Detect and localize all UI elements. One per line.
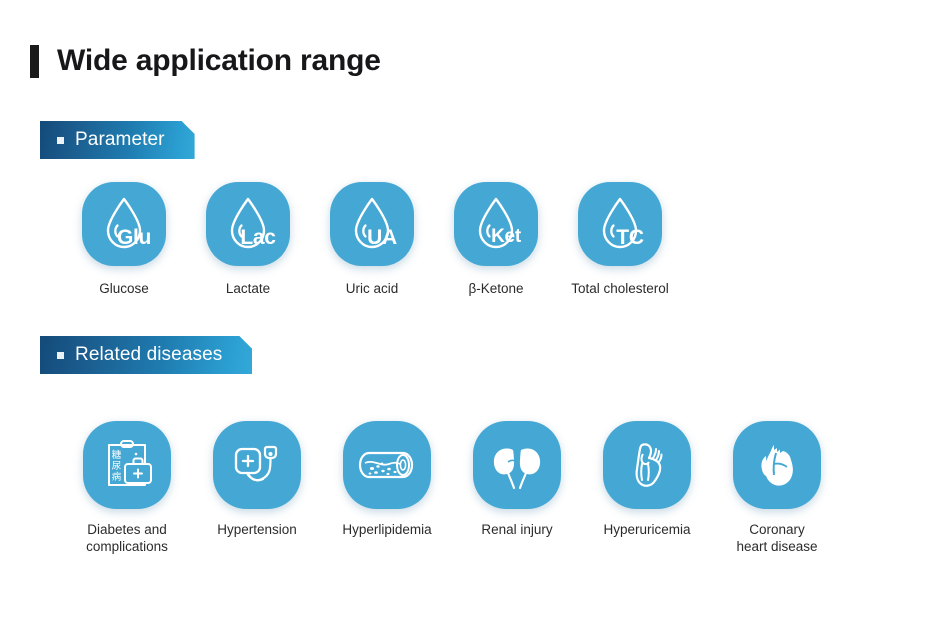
parameter-label-glucose: Glucose xyxy=(99,280,149,297)
parameter-item-total-cholesterol[interactable]: TC Total cholesterol xyxy=(558,182,682,297)
disease-item-hyperuricemia[interactable]: Hyperuricemia xyxy=(582,421,712,538)
blood-droplet-icon xyxy=(214,190,282,258)
parameter-tile-lactate[interactable]: Lac xyxy=(206,182,290,266)
kidneys-icon xyxy=(486,434,548,496)
disease-item-renal-injury[interactable]: Renal injury xyxy=(452,421,582,538)
disease-label-renal-injury: Renal injury xyxy=(481,521,552,538)
disease-tile-diabetes[interactable]: 糖 尿 病 xyxy=(83,421,171,509)
disease-label-hypertension: Hypertension xyxy=(217,521,297,538)
disease-tile-hyperuricemia[interactable] xyxy=(603,421,691,509)
blood-vessel-lipid-icon xyxy=(355,433,419,497)
disease-tile-hypertension[interactable] xyxy=(213,421,301,509)
section-banner-parameter: Parameter xyxy=(40,121,195,159)
section-banner-parameter-label: Parameter xyxy=(75,129,165,151)
blood-droplet-icon xyxy=(338,190,406,258)
blood-droplet-icon xyxy=(586,190,654,258)
parameter-tile-total-cholesterol[interactable]: TC xyxy=(578,182,662,266)
parameter-label-total-cholesterol: Total cholesterol xyxy=(571,280,669,297)
disease-item-hyperlipidemia[interactable]: Hyperlipidemia xyxy=(322,421,452,538)
disease-label-hyperuricemia: Hyperuricemia xyxy=(603,521,690,538)
cjk-char-1: 糖 xyxy=(112,449,122,461)
parameter-tile-row: Glu Glucose Lac Lactate UA Ur xyxy=(62,182,682,297)
cjk-char-2: 尿 xyxy=(112,461,122,472)
title-accent-bar xyxy=(30,45,39,78)
clipboard-medical-kit-icon: 糖 尿 病 xyxy=(95,433,159,497)
disease-tile-row: 糖 尿 病 Diabetes and complications xyxy=(62,421,842,555)
blood-pressure-monitor-icon xyxy=(226,434,288,496)
parameter-item-ketone[interactable]: Ket β-Ketone xyxy=(434,182,558,297)
disease-item-diabetes[interactable]: 糖 尿 病 Diabetes and complications xyxy=(62,421,192,555)
anatomical-heart-icon xyxy=(746,434,808,496)
disease-tile-coronary-heart-disease[interactable] xyxy=(733,421,821,509)
disease-item-hypertension[interactable]: Hypertension xyxy=(192,421,322,538)
parameter-tile-ketone[interactable]: Ket xyxy=(454,182,538,266)
disease-label-diabetes: Diabetes and complications xyxy=(86,521,168,555)
parameter-label-ketone: β-Ketone xyxy=(468,280,523,297)
page-title: Wide application range xyxy=(57,44,381,78)
parameter-label-lactate: Lactate xyxy=(226,280,270,297)
square-bullet-icon xyxy=(57,137,64,144)
disease-item-coronary-heart-disease[interactable]: Coronary heart disease xyxy=(712,421,842,555)
parameter-item-uric-acid[interactable]: UA Uric acid xyxy=(310,182,434,297)
parameter-item-lactate[interactable]: Lac Lactate xyxy=(186,182,310,297)
disease-label-coronary-heart-disease: Coronary heart disease xyxy=(736,521,817,555)
disease-tile-renal-injury[interactable] xyxy=(473,421,561,509)
page-title-row: Wide application range xyxy=(30,44,381,78)
disease-label-hyperlipidemia: Hyperlipidemia xyxy=(342,521,431,538)
disease-tile-hyperlipidemia[interactable] xyxy=(343,421,431,509)
square-bullet-icon xyxy=(57,352,64,359)
parameter-label-uric-acid: Uric acid xyxy=(346,280,399,297)
parameter-tile-glucose[interactable]: Glu xyxy=(82,182,166,266)
slide-root: Wide application range Parameter Glu Glu… xyxy=(0,0,940,629)
blood-droplet-icon xyxy=(462,190,530,258)
parameter-tile-uric-acid[interactable]: UA xyxy=(330,182,414,266)
gout-foot-icon xyxy=(616,434,678,496)
cjk-char-3: 病 xyxy=(112,471,122,483)
section-banner-related-diseases-label: Related diseases xyxy=(75,344,222,366)
blood-droplet-icon xyxy=(90,190,158,258)
parameter-item-glucose[interactable]: Glu Glucose xyxy=(62,182,186,297)
section-banner-related-diseases: Related diseases xyxy=(40,336,252,374)
